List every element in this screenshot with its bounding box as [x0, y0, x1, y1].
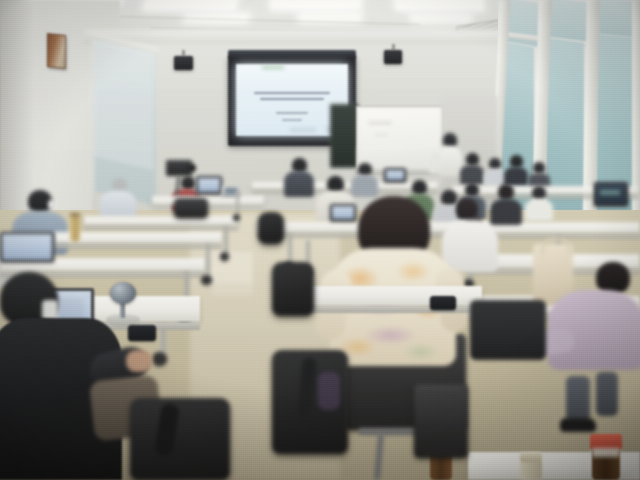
- attendee-torso: [460, 165, 484, 185]
- desk-edge: [84, 226, 238, 230]
- attendee-head: [112, 178, 127, 192]
- window-transom-glass: [548, 0, 588, 42]
- backpack: [272, 262, 314, 316]
- tote-handle: [541, 238, 571, 255]
- desk-leg: [236, 192, 239, 216]
- standing-person-leg: [596, 372, 618, 416]
- left-window-blind: [93, 41, 153, 171]
- laptop-screen: [198, 178, 220, 192]
- desk-caster: [201, 275, 212, 285]
- desk-leg: [224, 226, 228, 254]
- chair-mesh: [418, 388, 464, 454]
- attendee-head: [412, 180, 427, 195]
- attendee-torso: [490, 199, 522, 225]
- wall-speaker-right: [384, 50, 402, 64]
- attendee-torso: [351, 175, 378, 197]
- standing-presenter-torso: [436, 146, 462, 176]
- standing-person-shoe: [560, 418, 596, 432]
- desk-leg: [288, 234, 292, 264]
- attendee-torso: [525, 199, 553, 221]
- ceiling-soffit: [84, 30, 504, 44]
- microphone-head: [110, 282, 136, 304]
- desk-caster: [233, 214, 240, 221]
- bottle-cap: [520, 452, 542, 462]
- smartphone: [128, 325, 156, 341]
- chalkboard-panel: [330, 104, 358, 168]
- foreground-dark-attendee-mask: [42, 300, 58, 320]
- attendee-head: [498, 184, 514, 200]
- ceiling-light-panel: [300, 14, 360, 21]
- backpack: [130, 398, 230, 480]
- attendee-torso: [284, 171, 314, 197]
- slide-accent-bar: [262, 66, 284, 69]
- floor-panel-seam: [212, 284, 254, 296]
- desk-row-far: [252, 182, 438, 190]
- laptop-screen: [2, 234, 52, 260]
- whiteboard-marking: [368, 122, 392, 124]
- attendee-head: [441, 190, 457, 206]
- attendee-head: [465, 183, 479, 197]
- bottle-label: [592, 448, 620, 457]
- whiteboard-marking: [374, 134, 388, 136]
- ceiling-light-panel: [412, 15, 471, 21]
- ceiling-light-panel: [145, 0, 238, 9]
- ceiling-light-panel: [395, 0, 483, 9]
- desk-caster: [220, 252, 229, 261]
- desk-leg: [206, 244, 210, 278]
- bottle-cap: [70, 213, 80, 217]
- attendee-head: [532, 186, 546, 200]
- laptop-screen-glow: [600, 190, 620, 195]
- photograph-canvas: University lecture room seminar, photogr…: [0, 0, 640, 480]
- slide-byline-line: [282, 119, 302, 121]
- desk-row-left-far: [84, 216, 238, 226]
- standing-person-leg: [566, 376, 590, 422]
- slide-byline-line: [276, 112, 308, 114]
- backpack-highlight: [318, 372, 340, 410]
- camera-operator-head: [181, 176, 195, 190]
- desk-edge: [54, 244, 222, 248]
- wooden-wall-plaque: [47, 33, 66, 69]
- backpack: [258, 212, 284, 244]
- video-camera-lens: [188, 164, 196, 172]
- ceiling-light-panel: [272, 0, 361, 8]
- attendee-torso: [100, 191, 136, 219]
- drink-bottle: [70, 216, 80, 242]
- smartphone: [430, 296, 456, 310]
- laptop-screen: [332, 206, 354, 219]
- foreground-dark-attendee-hand: [126, 350, 152, 372]
- laptop-screen: [386, 170, 404, 180]
- front-control-desk: [152, 196, 264, 205]
- desk-caster: [152, 352, 167, 366]
- wall-speaker-left: [174, 56, 193, 70]
- slide-footer-mark: [290, 128, 316, 132]
- ponytail-attendee-torso: [442, 220, 498, 272]
- drink-bottle: [520, 460, 542, 480]
- floor-panel-seam: [206, 250, 254, 286]
- attendee-face-mask: [48, 200, 56, 209]
- slide-title-line: [254, 92, 330, 94]
- slide-title-line: [260, 98, 324, 100]
- chair-back: [174, 198, 208, 218]
- chair-back: [470, 300, 546, 360]
